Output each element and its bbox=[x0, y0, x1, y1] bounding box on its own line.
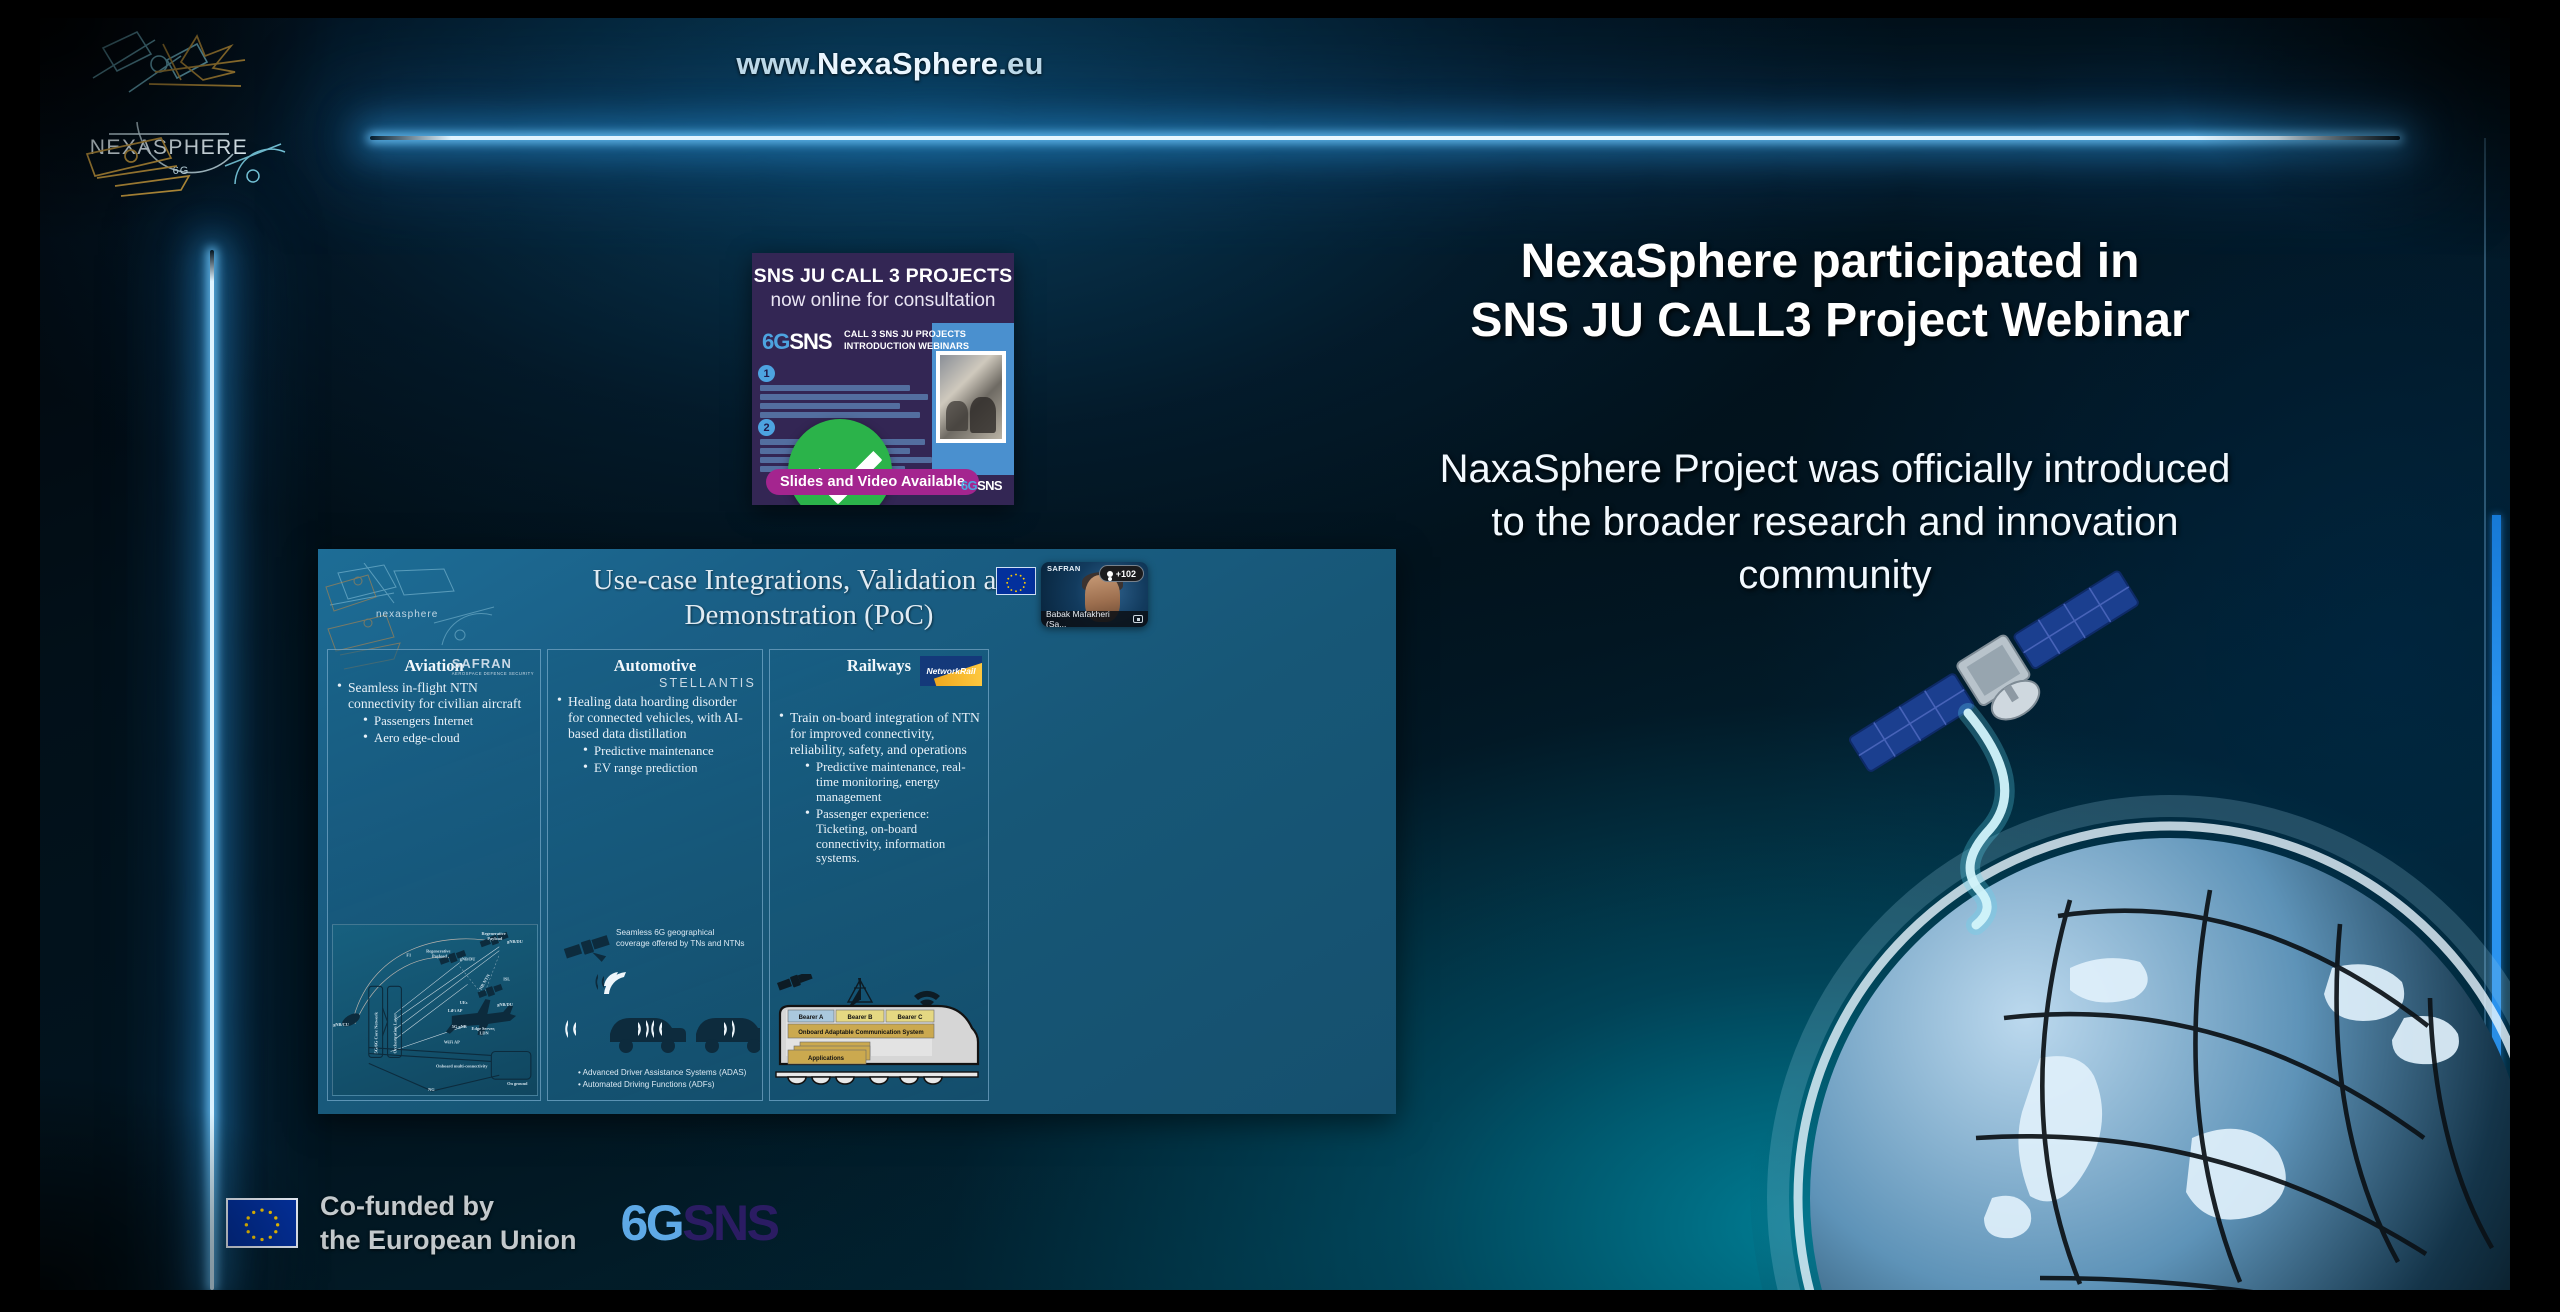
page-frame: NEXASPHERE 6G www.NexaSphere.eu bbox=[0, 0, 2560, 1312]
bullet-item: Predictive maintenance, real-time monito… bbox=[804, 760, 980, 805]
safran-logo-tagline: AEROSPACE DEFENCE SECURITY bbox=[452, 671, 534, 676]
url-prefix: www. bbox=[736, 46, 817, 81]
bullet-list-aviation: Seamless in-flight NTN connectivity for … bbox=[336, 680, 532, 746]
usecase-column-aviation: Aviation SAFRAN AEROSPACE DEFENCE SECURI… bbox=[327, 649, 541, 1101]
diagram-bullet: Advanced Driver Assistance Systems (ADAS… bbox=[578, 1067, 746, 1080]
railway-train-diagram: Bearer A Bearer B Bearer C Onboard Adapt… bbox=[774, 974, 986, 1098]
column-title-automotive: Automotive bbox=[548, 656, 762, 676]
headline-line-1: NexaSphere participated in bbox=[1340, 233, 2320, 292]
bullet-list-railways: Train on-board integration of NTN for im… bbox=[778, 710, 980, 866]
participant-count: +102 bbox=[1116, 569, 1136, 579]
svg-text:On ground: On ground bbox=[507, 1081, 528, 1086]
bullet-item: Predictive maintenance bbox=[582, 744, 754, 759]
bullet-item: Passenger experience: Ticketing, on-boar… bbox=[804, 807, 980, 867]
promo-logo-sns: SNS bbox=[789, 329, 831, 354]
svg-text:gNB/DU: gNB/DU bbox=[497, 1002, 514, 1007]
promo-item-1-lines bbox=[760, 385, 940, 421]
svg-text:gNB/DU: gNB/DU bbox=[507, 939, 524, 944]
safran-logo-text: SAFRAN bbox=[452, 656, 512, 671]
participant-name: Babak Mafakheri (Sa... bbox=[1046, 609, 1129, 627]
promo-pill-label: Slides and Video Available bbox=[766, 469, 979, 495]
svg-text:LDN: LDN bbox=[479, 1031, 489, 1036]
promo-item-1-number: 1 bbox=[758, 365, 775, 382]
usecase-column-railways: Railways NetworkRail Train on-board inte… bbox=[769, 649, 989, 1101]
cofunded-text: Co-funded by the European Union bbox=[320, 1189, 577, 1258]
aviation-network-diagram: RegenerativePayload gNB/DU RegenerativeP… bbox=[332, 924, 538, 1096]
pin-video-icon[interactable] bbox=[1133, 615, 1143, 623]
bullet-item: EV range prediction bbox=[582, 761, 754, 776]
automotive-coverage-diagram: Seamless 6G geographical coverage offere… bbox=[552, 920, 760, 1096]
automotive-diagram-caption: Seamless 6G geographical coverage offere… bbox=[616, 928, 748, 949]
footer: Co-funded by the European Union 6GSNS bbox=[226, 1189, 778, 1258]
networkrail-logo-text: NetworkRail bbox=[926, 666, 975, 676]
site-url[interactable]: www.NexaSphere.eu bbox=[40, 46, 1740, 82]
svg-text:5G gNB: 5G gNB bbox=[452, 1024, 467, 1029]
video-participant-tile[interactable]: SAFRAN +102 Babak Mafakheri (Sa... bbox=[1041, 562, 1148, 627]
slide-canvas: NEXASPHERE 6G www.NexaSphere.eu bbox=[40, 18, 2510, 1290]
eu-flag-icon-slide bbox=[996, 567, 1036, 595]
svg-text:LiFi AP: LiFi AP bbox=[448, 1008, 463, 1013]
svg-text:F1: F1 bbox=[406, 953, 411, 958]
promo-sns-logo: 6GSNS bbox=[762, 329, 832, 355]
bullet-item: Aero edge-cloud bbox=[362, 731, 532, 746]
subheadline-line-1: NaxaSphere Project was officially introd… bbox=[1310, 443, 2360, 496]
bullet-item: Passengers Internet bbox=[362, 714, 532, 729]
participant-count-badge[interactable]: +102 bbox=[1099, 565, 1144, 582]
bullet-item: Seamless in-flight NTN connectivity for … bbox=[336, 680, 532, 712]
bearer-b-label: Bearer B bbox=[847, 1015, 873, 1021]
stellantis-logo: STELLANTIS bbox=[659, 676, 756, 690]
bullet-list-automotive: Healing data hoarding disorder for conne… bbox=[556, 694, 754, 776]
sns-6g-logo: 6GSNS bbox=[621, 1198, 778, 1248]
tile-partner-label: SAFRAN bbox=[1047, 564, 1081, 573]
svg-text:5G/6G Core Network: 5G/6G Core Network bbox=[374, 1012, 379, 1054]
slide-title-line-2: Demonstration (PoC) bbox=[504, 598, 1114, 633]
promo-webinar-title-2: INTRODUCTION WEBINARS bbox=[844, 341, 974, 353]
url-suffix: .eu bbox=[998, 46, 1043, 81]
headline-line-2: SNS JU CALL3 Project Webinar bbox=[1340, 292, 2320, 351]
safran-logo: SAFRAN AEROSPACE DEFENCE SECURITY bbox=[452, 656, 534, 676]
tile-name-bar: Babak Mafakheri (Sa... bbox=[1041, 611, 1148, 627]
svg-text:gNB/DU: gNB/DU bbox=[460, 957, 477, 962]
eu-flag-icon bbox=[226, 1198, 298, 1248]
cofunded-line-2: the European Union bbox=[320, 1223, 577, 1258]
sns-logo-sns: SNS bbox=[682, 1195, 777, 1251]
promo-heading-1: SNS JU CALL 3 PROJECTS bbox=[752, 265, 1014, 288]
url-brand: NexaSphere bbox=[817, 46, 998, 81]
svg-text:Payload: Payload bbox=[487, 936, 503, 941]
svg-text:Orchestration Layer: Orchestration Layer bbox=[392, 1014, 397, 1054]
svg-text:gNB/CU: gNB/CU bbox=[333, 1022, 350, 1027]
promo-webinar-title: CALL 3 SNS JU PROJECTS INTRODUCTION WEBI… bbox=[844, 329, 974, 352]
automotive-diagram-bullets: Advanced Driver Assistance Systems (ADAS… bbox=[578, 1067, 746, 1092]
sns-promo-card[interactable]: SNS JU CALL 3 PROJECTS now online for co… bbox=[752, 253, 1014, 505]
diagram-bullet: Automated Driving Functions (ADFs) bbox=[578, 1079, 746, 1092]
svg-text:NG: NG bbox=[428, 1087, 435, 1092]
promo-footer-6g: 6G bbox=[961, 478, 977, 493]
bearer-c-label: Bearer C bbox=[897, 1015, 923, 1021]
bearer-a-label: Bearer A bbox=[799, 1015, 824, 1021]
person-icon bbox=[1107, 571, 1113, 577]
applications-label: Applications bbox=[808, 1056, 845, 1062]
cofunded-line-1: Co-funded by bbox=[320, 1189, 577, 1224]
promo-webinar-title-1: CALL 3 SNS JU PROJECTS bbox=[844, 329, 974, 341]
usecase-column-automotive: Automotive STELLANTIS Healing data hoard… bbox=[547, 649, 763, 1101]
sns-logo-6g: 6G bbox=[621, 1195, 683, 1251]
bullet-item: Healing data hoarding disorder for conne… bbox=[556, 694, 754, 742]
promo-footer-sns: SNS bbox=[977, 478, 1002, 493]
slide-watermark-text: nexasphere bbox=[376, 609, 438, 620]
onboard-system-label: Onboard Adaptable Communication System bbox=[798, 1030, 923, 1036]
svg-text:Payload: Payload bbox=[432, 954, 448, 959]
promo-photo bbox=[936, 351, 1006, 443]
networkrail-logo: NetworkRail bbox=[920, 656, 982, 686]
bullet-item: Train on-board integration of NTN for im… bbox=[778, 710, 980, 758]
promo-item-2-number: 2 bbox=[758, 419, 775, 436]
promo-inner-graphic: 6GSNS CALL 3 SNS JU PROJECTS INTRODUCTIO… bbox=[752, 323, 1014, 475]
satellite-globe-artwork bbox=[1740, 498, 2510, 1290]
top-glow-line bbox=[370, 136, 2400, 140]
webinar-slide-screenshot[interactable]: nexasphere Use-case Integrations, Valida… bbox=[318, 549, 1396, 1114]
svg-text:UEs: UEs bbox=[460, 1000, 468, 1005]
promo-heading-2: now online for consultation bbox=[752, 290, 1014, 312]
promo-logo-6g: 6G bbox=[762, 329, 789, 354]
left-glow-line bbox=[210, 250, 214, 1290]
promo-footer-logo: 6GSNS bbox=[961, 478, 1002, 493]
headline: NexaSphere participated in SNS JU CALL3 … bbox=[1340, 233, 2320, 350]
svg-text:WiFi AP: WiFi AP bbox=[444, 1040, 460, 1045]
svg-text:Onboard multi-connectivity: Onboard multi-connectivity bbox=[436, 1063, 488, 1068]
svg-text:ISL: ISL bbox=[503, 976, 510, 981]
